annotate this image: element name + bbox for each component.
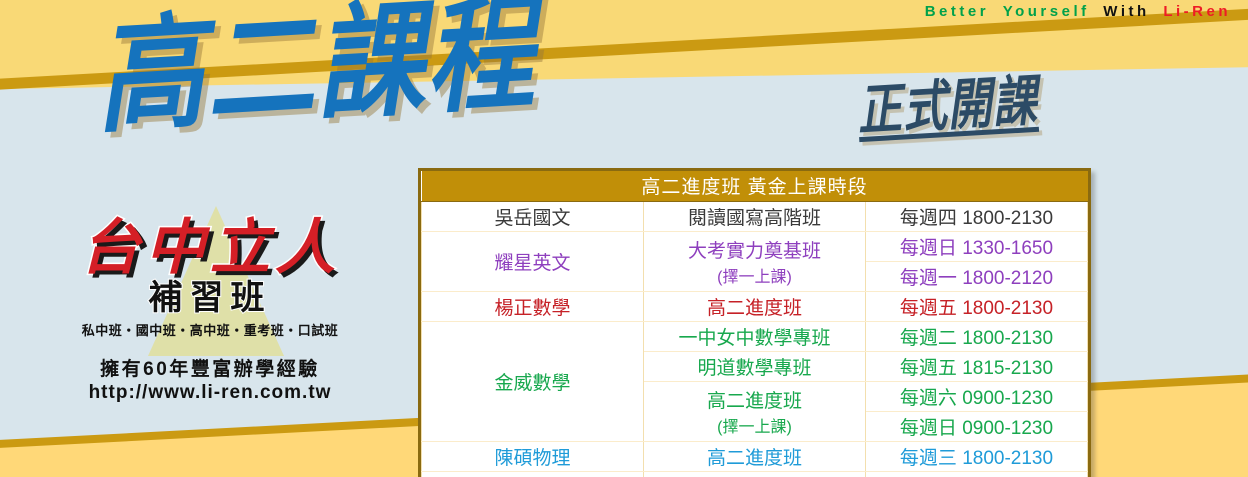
cell-time-slot: 每週二 1800-2130 [866,321,1088,351]
table-row: 陳碩物理高二進度班每週三 1800-2130 [422,441,1088,471]
cell-course: 高二進度班 [644,471,866,477]
cell-time-slot: 每週日 1330-1650 [866,231,1088,261]
cell-teacher: 王皓化學 [422,471,644,477]
cell-time-slot: 每週六 1800-2115 [866,471,1088,477]
course-name: 高二進度班 [707,448,802,469]
cell-course: 大考實力奠基班(擇一上課) [644,231,866,291]
cell-teacher: 吳岳國文 [422,201,644,231]
tagline: Better Yourself With Li-Ren [922,3,1234,20]
course-name: 大考實力奠基班 [688,241,821,262]
cell-course: 閱讀國寫高階班 [644,201,866,231]
logo-brand-name: 台中立人 [20,214,400,278]
logo-class-tags: 私中班・國中班・高中班・重考班・口試班 [20,320,400,339]
cell-teacher: 耀星英文 [422,231,644,291]
table-row: 吳岳國文閱讀國寫高階班每週四 1800-2130 [422,201,1088,231]
tagline-word-1: Better [922,3,992,20]
cell-course: 高二進度班 [644,291,866,321]
table-row: 楊正數學高二進度班每週五 1800-2130 [422,291,1088,321]
schedule-table-container: 高二進度班 黃金上課時段 吳岳國文閱讀國寫高階班每週四 1800-2130耀星英… [418,168,1091,477]
cell-time-slot: 每週一 1800-2120 [866,261,1088,291]
course-name: 一中女中數學專班 [678,328,830,349]
page-subtitle: 正式開課 [855,56,1039,146]
logo-brand-kind: 補習班 [20,280,400,317]
logo-website-url[interactable]: http://www.li-ren.com.tw [20,382,400,404]
cell-time-slot: 每週三 1800-2130 [866,441,1088,471]
cell-teacher: 楊正數學 [422,291,644,321]
table-row: 王皓化學高二進度班每週六 1800-2115 [422,471,1088,477]
schedule-header-title: 高二進度班 黃金上課時段 [422,171,1088,201]
table-header-row: 高二進度班 黃金上課時段 [422,171,1088,201]
table-row: 金威數學一中女中數學專班每週二 1800-2130 [422,321,1088,351]
cell-time-slot: 每週六 0900-1230 [866,381,1088,411]
cell-teacher: 金威數學 [422,321,644,441]
brand-logo: 台中立人 補習班 私中班・國中班・高中班・重考班・口試班 擁有60年豐富辦學經驗… [20,214,400,424]
course-name: 高二進度班 [707,298,802,319]
course-name: 明道數學專班 [697,358,811,379]
page-title: 高二課程 [92,0,539,144]
cell-time-slot: 每週五 1800-2130 [866,291,1088,321]
tagline-word-2: Yourself [1000,3,1093,20]
cell-time-slot: 每週四 1800-2130 [866,201,1088,231]
logo-experience: 擁有60年豐富辦學經驗 [20,354,400,381]
cell-course: 高二進度班(擇一上課) [644,381,866,441]
cell-course: 高二進度班 [644,441,866,471]
table-row: 耀星英文大考實力奠基班(擇一上課)每週日 1330-1650 [422,231,1088,261]
cell-course: 明道數學專班 [644,351,866,381]
schedule-table-body: 吳岳國文閱讀國寫高階班每週四 1800-2130耀星英文大考實力奠基班(擇一上課… [422,201,1088,477]
tagline-word-4: Li-Ren [1160,3,1234,20]
course-note: (擇一上課) [648,263,861,287]
promo-banner-canvas: Better Yourself With Li-Ren 高二課程 正式開課 台中… [0,0,1248,477]
course-name: 高二進度班 [707,391,802,412]
cell-teacher: 陳碩物理 [422,441,644,471]
cell-course: 一中女中數學專班 [644,321,866,351]
schedule-table: 高二進度班 黃金上課時段 吳岳國文閱讀國寫高階班每週四 1800-2130耀星英… [421,171,1088,477]
cell-time-slot: 每週日 0900-1230 [866,411,1088,441]
course-note: (擇一上課) [648,413,861,437]
course-name: 閱讀國寫高階班 [688,208,821,229]
tagline-word-3: With [1100,3,1152,20]
cell-time-slot: 每週五 1815-2130 [866,351,1088,381]
